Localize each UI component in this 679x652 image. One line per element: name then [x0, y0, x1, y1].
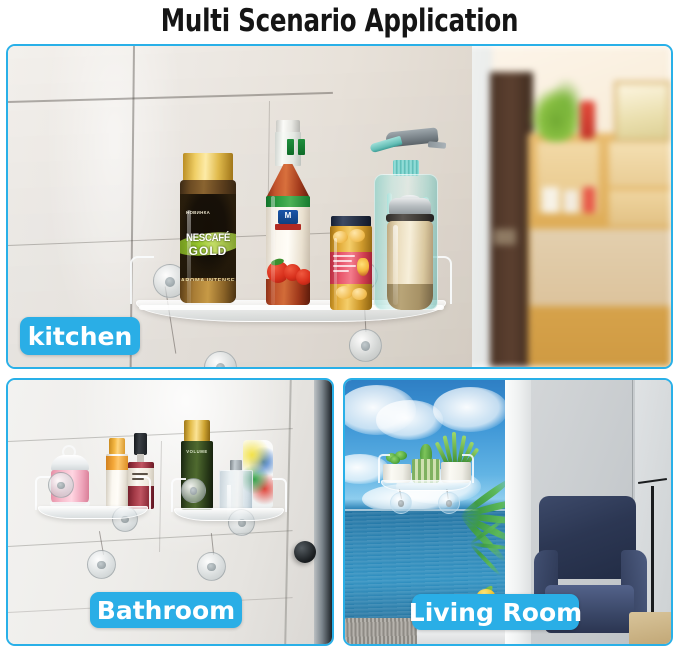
- shelf-rail-right: [272, 478, 287, 512]
- background-open-shelf: [530, 229, 671, 306]
- acrylic-shelf-living-room[interactable]: [381, 480, 471, 492]
- suction-cup[interactable]: [197, 552, 226, 581]
- neck-seal: [298, 139, 305, 155]
- aloe-leaf: [452, 432, 457, 464]
- product-clear-perfume-bottle[interactable]: [219, 460, 253, 510]
- bottle-body: [106, 454, 128, 508]
- woven-basket: [345, 618, 417, 644]
- bottle-neck: [275, 132, 301, 166]
- jar-body: [387, 221, 433, 310]
- suction-cup[interactable]: [438, 492, 460, 514]
- shelf-tray: [174, 508, 284, 521]
- bottle-body: [219, 470, 253, 510]
- shelf-tray: [38, 506, 148, 519]
- shelf-rail-left: [35, 476, 50, 510]
- suction-cup[interactable]: [349, 329, 382, 362]
- background-picture-frame: [614, 81, 671, 142]
- shelf-rail-right: [136, 476, 151, 510]
- side-table: [629, 612, 671, 644]
- scene-label-living-room: Living Room: [412, 594, 579, 630]
- shelf-rail-left: [171, 478, 186, 512]
- background-red-vase: [580, 101, 594, 140]
- glass-highlight: [393, 225, 398, 305]
- jar-body: [330, 226, 372, 310]
- acrylic-shelf-bathroom-left[interactable]: [38, 506, 148, 520]
- product-cream-jar[interactable]: [386, 198, 434, 310]
- bottle-body: M: [266, 196, 310, 305]
- succulent-rosette: [390, 456, 400, 463]
- brand-logo-underline: [275, 224, 301, 230]
- bottle-brand-text: VOLUME: [181, 449, 213, 454]
- scene-label-kitchen: kitchen: [20, 317, 140, 355]
- bottle-cap: [184, 420, 210, 442]
- fruit-piece: [336, 286, 353, 299]
- product-orange-cosmetic-bottle[interactable]: [106, 438, 128, 508]
- background-jar: [542, 187, 559, 213]
- fruit-piece: [349, 229, 365, 242]
- suction-cup[interactable]: [390, 492, 412, 514]
- cloud: [433, 387, 508, 432]
- neck-seal: [287, 139, 294, 155]
- spray-nozzle: [428, 141, 446, 149]
- jar-lid: [389, 198, 431, 215]
- shelf-tray: [381, 480, 471, 491]
- shower-door-knob[interactable]: [294, 541, 316, 563]
- product-nescafe-gold-jar[interactable]: НОВИНКА NESCAFÉ GOLD AROMA INTENSE АРОМА…: [180, 153, 236, 303]
- acrylic-shelf-bathroom-right[interactable]: [174, 508, 284, 522]
- background-door: [490, 72, 533, 367]
- shelf-rail-right: [462, 454, 474, 483]
- glass-highlight: [187, 210, 191, 303]
- jar-lid: [183, 153, 233, 181]
- bottle-cap: [134, 433, 147, 455]
- shelf-rail-left: [130, 256, 154, 304]
- background-jar: [564, 190, 578, 212]
- background-plant: [549, 78, 582, 120]
- background-door-handle: [494, 229, 515, 245]
- suction-cup[interactable]: [87, 550, 116, 579]
- brand-logo: M: [278, 210, 298, 224]
- background-shelf-compartment: [609, 190, 671, 225]
- shelf-rail-left: [378, 454, 390, 483]
- bottle-shoulder: [266, 164, 310, 198]
- bottle-stripe: [106, 456, 128, 470]
- product-ketchup-bottle[interactable]: M: [266, 120, 310, 305]
- fruit-piece: [352, 288, 367, 300]
- jar-body: НОВИНКА NESCAFÉ GOLD AROMA INTENSE АРОМА…: [180, 180, 236, 303]
- product-infographic: Multi Scenario Application: [0, 0, 679, 652]
- shower-door-edge: [314, 380, 332, 644]
- jar-lid: [51, 455, 89, 471]
- label-fruit-artwork: [357, 258, 369, 276]
- background-picture-image: [617, 84, 668, 139]
- bottle-cap: [109, 438, 125, 455]
- glass-highlight: [271, 196, 275, 305]
- scene-label-bathroom: Bathroom: [90, 592, 242, 628]
- spray-trigger-head[interactable]: [370, 128, 440, 164]
- floor-lamp-pole: [651, 486, 653, 623]
- product-striped-pot-cactus[interactable]: [412, 444, 440, 483]
- suction-cup[interactable]: [48, 472, 74, 498]
- background-shelf-compartment: [609, 142, 671, 187]
- product-preserved-fruit-jar[interactable]: [330, 216, 372, 310]
- background-jar: [583, 187, 595, 213]
- tomato-graphic: [296, 269, 310, 285]
- label-text-line: [132, 473, 148, 475]
- page-title: Multi Scenario Application: [41, 0, 639, 42]
- glass-highlight: [334, 238, 337, 310]
